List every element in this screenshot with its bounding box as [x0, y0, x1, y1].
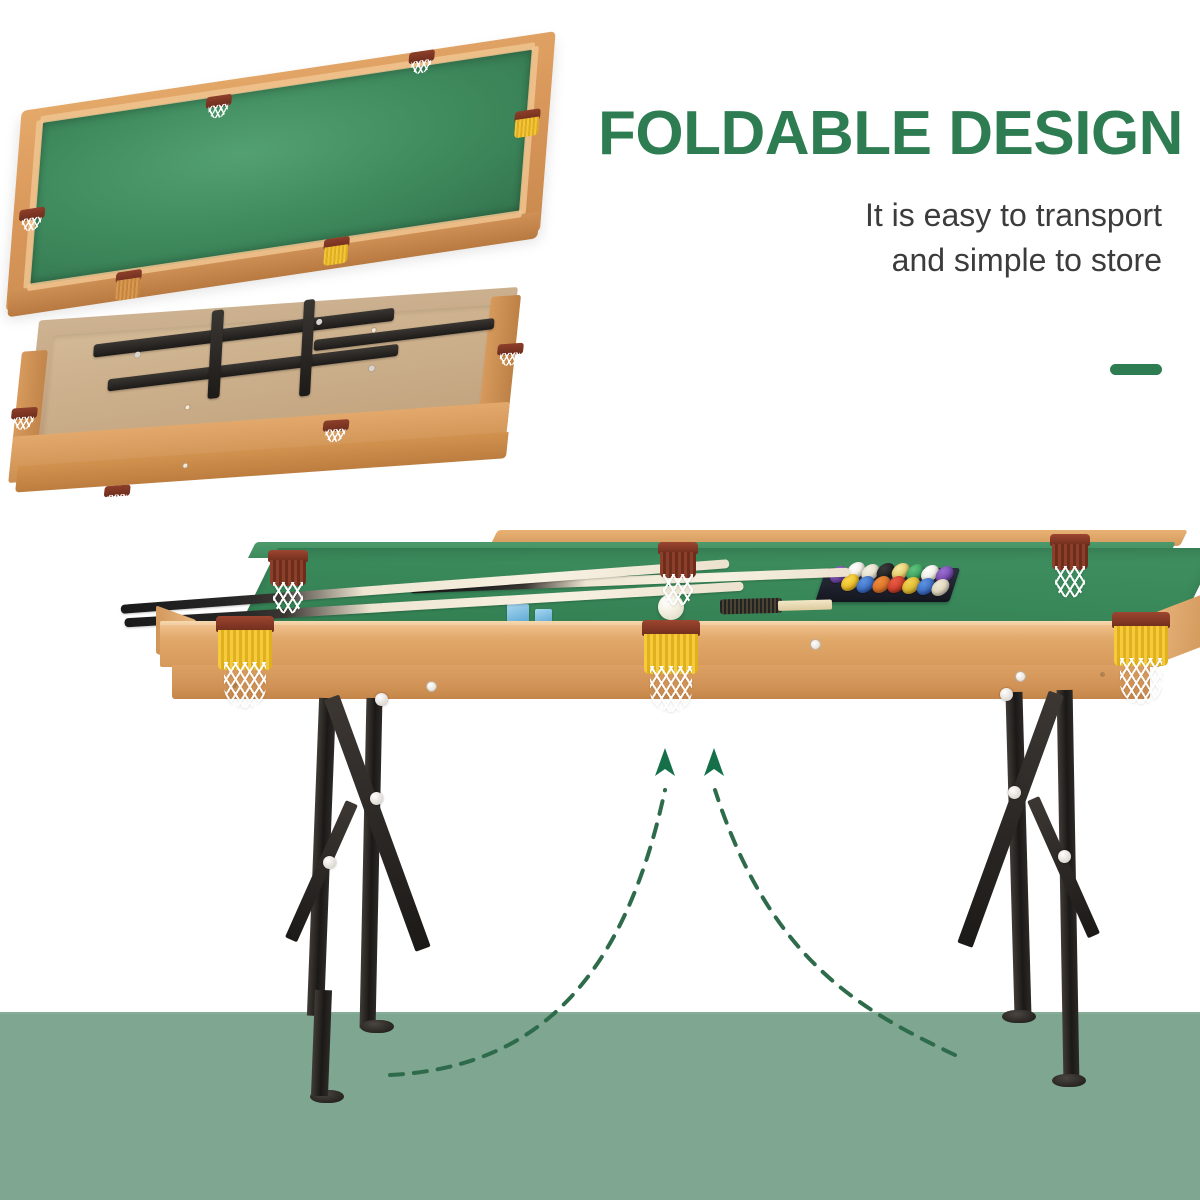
leg-bolt — [1000, 688, 1013, 701]
leg-foot-cap — [1052, 1074, 1086, 1087]
subtitle-line-2: and simple to store — [642, 238, 1162, 283]
folded-table-underside — [0, 278, 558, 528]
leg-foot-cap — [360, 1020, 394, 1033]
billiard-balls-group — [824, 560, 959, 594]
brush-bristles — [720, 598, 782, 615]
brush-handle — [778, 599, 832, 610]
table-brush — [720, 597, 828, 615]
pocket-net — [1055, 566, 1085, 598]
pocket-net — [224, 662, 266, 708]
pocket-corner-back-left — [268, 550, 308, 572]
accent-dash-divider — [1110, 364, 1162, 375]
table-leg — [1005, 692, 1031, 1018]
product-photo-assembled-table — [110, 520, 1200, 1040]
leg-foot-cap — [1002, 1010, 1036, 1023]
pocket-corner-right — [496, 343, 524, 363]
leg-bolt — [1008, 786, 1021, 799]
pocket-corner-left-far — [115, 269, 142, 291]
pocket-net — [663, 574, 693, 606]
subtitle-line-1: It is easy to transport — [642, 193, 1162, 238]
pocket-corner-back-right — [1050, 534, 1090, 556]
product-marketing-image: FOLDABLE DESIGN It is easy to transport … — [0, 0, 1200, 1200]
apron-screw — [810, 639, 821, 650]
chalk-cube — [507, 604, 529, 622]
pocket-net — [273, 582, 303, 614]
floor-band — [0, 1012, 1200, 1200]
page-subtitle: It is easy to transport and simple to st… — [642, 193, 1162, 284]
apron-screw-small — [1100, 672, 1105, 677]
leg-bolt — [323, 856, 336, 869]
pocket-side-front — [322, 419, 350, 439]
leg-bolt — [370, 792, 383, 805]
pocket-corner-front-left — [216, 616, 274, 646]
page-title: FOLDABLE DESIGN — [598, 103, 1188, 165]
apron-screw — [1015, 671, 1026, 682]
pocket-side-bottom — [323, 236, 350, 258]
apron-screw — [426, 681, 437, 692]
leg-bolt — [375, 693, 388, 706]
pocket-net — [1120, 658, 1162, 704]
pocket-net — [650, 666, 692, 712]
pocket-corner-front-right — [1112, 612, 1170, 642]
pocket-side-front-center — [642, 620, 700, 650]
pocket-net — [106, 494, 127, 509]
pocket-corner-left — [10, 407, 38, 427]
triangle-ball-rack — [815, 558, 964, 604]
pocket-net — [499, 352, 520, 367]
leg-bolt — [1058, 850, 1071, 863]
pocket-corner-left-front — [103, 484, 131, 504]
product-photo-folded-underside — [8, 298, 568, 533]
table-leg — [360, 698, 383, 1028]
pocket-side-back-center — [658, 542, 698, 564]
pocket-corner-right-near — [514, 108, 541, 130]
